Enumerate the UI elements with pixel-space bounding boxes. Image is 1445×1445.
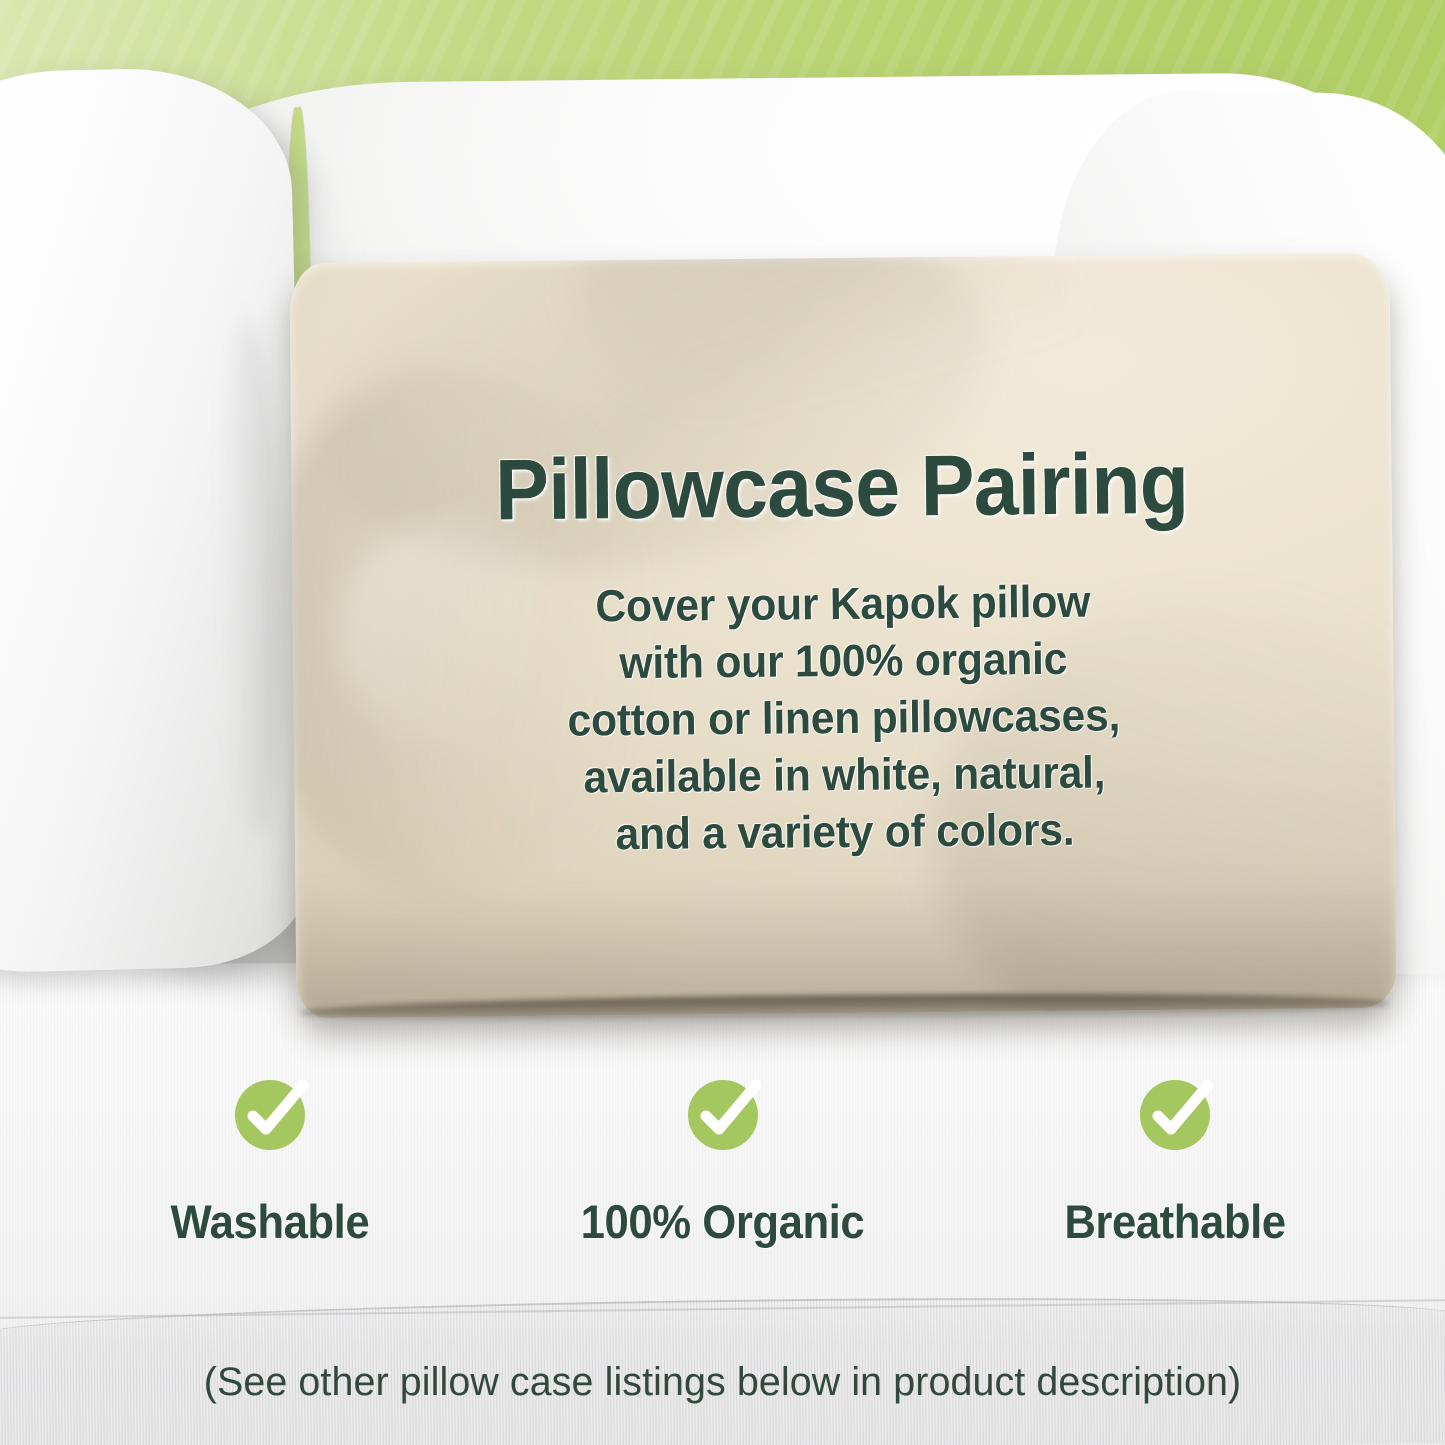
description-line: cotton or linen pillowcases, xyxy=(321,685,1366,752)
feature-label: Breathable xyxy=(1064,1198,1285,1245)
description-line: with our 100% organic xyxy=(320,628,1365,695)
product-lifestyle-image: Pillowcase Pairing Cover your Kapok pill… xyxy=(0,0,1445,1445)
check-circle-icon xyxy=(1140,1080,1210,1150)
feature-badge-breathable: Breathable xyxy=(965,1080,1385,1245)
description-line: available in white, natural, xyxy=(322,742,1367,809)
footer-note: (See other pillow case listings below in… xyxy=(11,1362,1434,1402)
feature-badge-organic: 100% Organic xyxy=(513,1080,933,1245)
feature-label: 100% Organic xyxy=(581,1198,865,1245)
product-description: Cover your Kapok pillow with our 100% or… xyxy=(320,571,1368,866)
marketing-copy-block: Pillowcase Pairing Cover your Kapok pill… xyxy=(289,253,1396,1019)
feature-label: Washable xyxy=(171,1198,370,1245)
feature-badge-washable: Washable xyxy=(60,1080,480,1245)
page-title: Pillowcase Pairing xyxy=(324,439,1359,535)
check-circle-icon xyxy=(688,1080,758,1150)
white-pillow-left xyxy=(0,65,311,975)
description-line: and a variety of colors. xyxy=(322,799,1367,866)
check-circle-icon xyxy=(235,1080,305,1150)
description-line: Cover your Kapok pillow xyxy=(320,571,1365,638)
feature-badge-list: Washable 100% Organic Breathable xyxy=(60,1080,1385,1280)
